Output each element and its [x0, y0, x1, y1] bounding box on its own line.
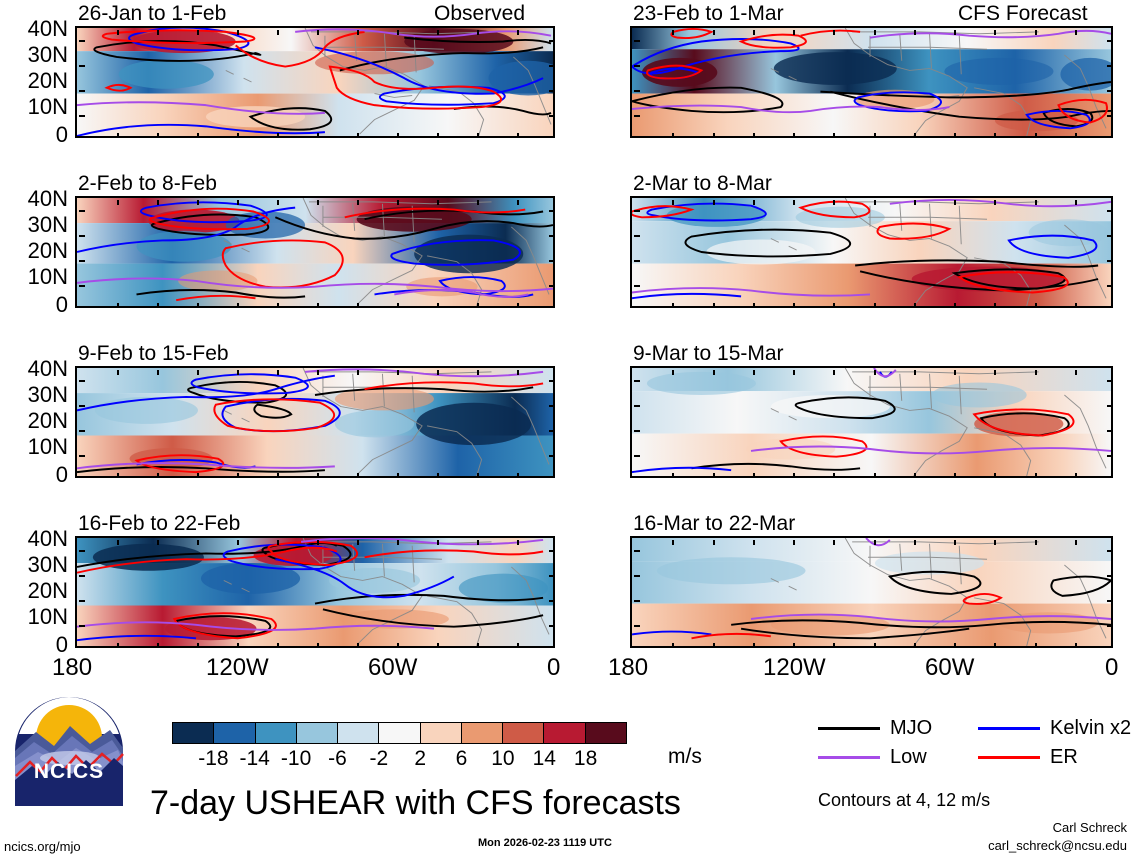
axis-tick	[874, 30, 876, 35]
axis-tick	[237, 643, 239, 648]
colorbar-tick-labels: -18 -14 -10 -6 -2 2 6 10 14 18	[172, 748, 627, 774]
axis-tick	[1107, 625, 1113, 627]
axis-tick	[357, 30, 359, 35]
axis-tick	[157, 30, 159, 35]
y-tick-20N-row3: 20N	[0, 410, 68, 432]
axis-tick	[713, 643, 715, 648]
y-tick-30N-row1: 30N	[0, 44, 68, 66]
column-header-cfs: CFS Forecast	[958, 3, 1088, 24]
axis-tick	[517, 30, 519, 35]
axis-tick	[994, 473, 996, 478]
axis-tick	[277, 303, 279, 308]
axis-tick	[954, 200, 956, 205]
author-email[interactable]: carl_schreck@ncsu.edu	[988, 839, 1127, 852]
colorbar-unit-label: m/s	[668, 745, 702, 769]
axis-tick	[237, 370, 239, 375]
axis-tick	[477, 133, 479, 138]
axis-tick	[517, 370, 519, 375]
axis-tick	[549, 40, 555, 42]
axis-tick	[197, 30, 199, 35]
axis-tick	[753, 370, 755, 375]
map-panel-r4c1[interactable]	[75, 536, 555, 648]
axis-tick	[833, 303, 835, 308]
panel-title-r2c2: 2-Mar to 8-Mar	[633, 173, 772, 194]
axis-tick	[317, 370, 319, 375]
axis-tick	[357, 643, 359, 648]
axis-tick	[117, 473, 119, 478]
axis-tick	[157, 200, 159, 205]
axis-tick	[1107, 600, 1113, 602]
axis-tick	[914, 370, 916, 375]
axis-tick	[793, 473, 795, 478]
axis-tick	[477, 473, 479, 478]
axis-tick	[157, 370, 159, 375]
axis-tick	[833, 370, 835, 375]
axis-tick	[713, 200, 715, 205]
axis-tick	[793, 30, 795, 35]
panel-title-r2c1: 2-Feb to 8-Feb	[78, 173, 217, 194]
axis-tick	[954, 370, 956, 375]
axis-tick	[397, 473, 399, 478]
axis-tick	[1035, 303, 1037, 308]
y-tick-0-row1: 0	[0, 124, 68, 146]
cbar-tick-2: -10	[281, 748, 311, 769]
axis-tick	[753, 200, 755, 205]
axis-tick	[117, 200, 119, 205]
panel-title-r4c2: 16-Mar to 22-Mar	[633, 513, 795, 534]
axis-tick	[517, 643, 519, 648]
axis-tick	[1035, 473, 1037, 478]
axis-tick	[549, 405, 555, 407]
axis-tick	[1075, 473, 1077, 478]
axis-tick	[317, 540, 319, 545]
timestamp: Mon 2026-02-23 1119 UTC	[478, 838, 612, 849]
legend-line-kelvin	[978, 727, 1040, 730]
axis-tick	[672, 30, 674, 35]
axis-tick	[793, 133, 795, 138]
axis-tick	[517, 303, 519, 308]
axis-tick	[317, 200, 319, 205]
axis-tick	[197, 370, 199, 375]
axis-tick	[1035, 540, 1037, 545]
y-tick-30N-row4: 30N	[0, 554, 68, 576]
axis-tick	[1107, 285, 1113, 287]
axis-tick	[357, 200, 359, 205]
axis-tick	[1107, 575, 1113, 577]
axis-tick	[1035, 370, 1037, 375]
axis-tick	[914, 30, 916, 35]
cbar-tick-4: -2	[369, 748, 388, 769]
axis-tick	[753, 133, 755, 138]
axis-tick	[954, 540, 956, 545]
axis-tick	[753, 303, 755, 308]
y-tick-40N-row4: 40N	[0, 528, 68, 550]
axis-tick	[79, 430, 85, 432]
axis-tick	[634, 90, 640, 92]
axis-tick	[237, 473, 239, 478]
panel-title-r1c2: 23-Feb to 1-Mar	[633, 3, 784, 24]
axis-tick	[477, 370, 479, 375]
axis-tick	[1107, 405, 1113, 407]
axis-tick	[994, 643, 996, 648]
axis-tick	[357, 303, 359, 308]
axis-tick	[549, 235, 555, 237]
map-panel-r3c1[interactable]	[75, 366, 555, 478]
axis-tick	[634, 65, 640, 67]
axis-tick	[549, 625, 555, 627]
axis-tick	[914, 540, 916, 545]
axis-tick	[157, 643, 159, 648]
axis-tick	[117, 643, 119, 648]
axis-tick	[79, 625, 85, 627]
axis-tick	[117, 370, 119, 375]
axis-tick	[874, 540, 876, 545]
axis-tick	[713, 370, 715, 375]
axis-tick	[437, 643, 439, 648]
axis-tick	[994, 370, 996, 375]
axis-tick	[753, 643, 755, 648]
panel-title-r3c1: 9-Feb to 15-Feb	[78, 343, 229, 364]
axis-tick	[713, 133, 715, 138]
y-tick-40N-row3: 40N	[0, 358, 68, 380]
axis-tick	[397, 370, 399, 375]
colorbar-swatch-2	[256, 723, 297, 743]
axis-tick	[672, 133, 674, 138]
axis-tick	[397, 303, 399, 308]
axis-tick	[157, 133, 159, 138]
axis-tick	[549, 210, 555, 212]
axis-tick	[634, 210, 640, 212]
y-tick-20N-row1: 20N	[0, 70, 68, 92]
x-tick-60W-left: 60W	[368, 656, 417, 680]
legend-label-mjo: MJO	[890, 718, 932, 738]
axis-tick	[277, 643, 279, 648]
cbar-tick-1: -14	[240, 748, 270, 769]
axis-tick	[237, 540, 239, 545]
axis-tick	[79, 380, 85, 382]
colorbar-swatch-4	[338, 723, 379, 743]
ncics-logo	[14, 696, 124, 806]
axis-tick	[79, 90, 85, 92]
colorbar-swatch-9	[544, 723, 585, 743]
axis-tick	[549, 455, 555, 457]
axis-tick	[874, 303, 876, 308]
axis-tick	[634, 575, 640, 577]
axis-tick	[237, 133, 239, 138]
axis-tick	[1107, 210, 1113, 212]
axis-tick	[1107, 455, 1113, 457]
axis-tick	[357, 370, 359, 375]
colorbar	[172, 722, 627, 744]
axis-tick	[713, 473, 715, 478]
axis-tick	[517, 200, 519, 205]
axis-tick	[317, 30, 319, 35]
axis-tick	[833, 200, 835, 205]
axis-tick	[753, 30, 755, 35]
colorbar-swatch-1	[214, 723, 255, 743]
y-tick-10N-row4: 10N	[0, 606, 68, 628]
axis-tick	[713, 30, 715, 35]
cbar-tick-8: 14	[533, 748, 556, 769]
colorbar-swatch-0	[173, 723, 214, 743]
axis-tick	[549, 550, 555, 552]
axis-tick	[954, 643, 956, 648]
axis-tick	[634, 40, 640, 42]
y-tick-40N-row2: 40N	[0, 188, 68, 210]
axis-tick	[79, 455, 85, 457]
panel-title-r3c2: 9-Mar to 15-Mar	[633, 343, 784, 364]
axis-tick	[237, 303, 239, 308]
axis-tick	[517, 133, 519, 138]
axis-tick	[833, 473, 835, 478]
map-panel-r2c1[interactable]	[75, 196, 555, 308]
axis-tick	[397, 200, 399, 205]
main-title: 7-day USHEAR with CFS forecasts	[150, 786, 681, 820]
axis-tick	[833, 540, 835, 545]
colorbar-swatch-7	[462, 723, 503, 743]
axis-tick	[117, 133, 119, 138]
axis-tick	[397, 643, 399, 648]
axis-tick	[634, 455, 640, 457]
cbar-tick-5: 2	[414, 748, 426, 769]
axis-tick	[954, 303, 956, 308]
axis-tick	[672, 643, 674, 648]
axis-tick	[1035, 200, 1037, 205]
axis-tick	[549, 285, 555, 287]
axis-tick	[1035, 133, 1037, 138]
x-tick-60W-right: 60W	[925, 656, 974, 680]
axis-tick	[793, 370, 795, 375]
axis-tick	[277, 473, 279, 478]
axis-tick	[1107, 260, 1113, 262]
y-tick-10N-row2: 10N	[0, 266, 68, 288]
axis-tick	[157, 303, 159, 308]
axis-tick	[397, 540, 399, 545]
x-tick-180-right: 180	[608, 656, 648, 680]
axis-tick	[477, 30, 479, 35]
axis-tick	[517, 473, 519, 478]
axis-tick	[277, 370, 279, 375]
site-url[interactable]: ncics.org/mjo	[4, 840, 81, 853]
axis-tick	[397, 30, 399, 35]
axis-tick	[1075, 540, 1077, 545]
axis-tick	[317, 473, 319, 478]
axis-tick	[79, 600, 85, 602]
axis-tick	[437, 30, 439, 35]
axis-tick	[914, 643, 916, 648]
colorbar-swatch-5	[379, 723, 420, 743]
panel-title-r4c1: 16-Feb to 22-Feb	[78, 513, 240, 534]
axis-tick	[1107, 380, 1113, 382]
y-tick-20N-row2: 20N	[0, 240, 68, 262]
axis-tick	[517, 540, 519, 545]
axis-tick	[1075, 303, 1077, 308]
axis-tick	[914, 303, 916, 308]
axis-tick	[549, 575, 555, 577]
axis-tick	[1107, 115, 1113, 117]
axis-tick	[1107, 550, 1113, 552]
contour-note: Contours at 4, 12 m/s	[818, 790, 990, 811]
axis-tick	[874, 643, 876, 648]
legend-line-mjo	[818, 727, 880, 730]
panel-title-r1c1: 26-Jan to 1-Feb	[78, 3, 226, 24]
column-header-observed: Observed	[434, 3, 525, 24]
x-tick-120W-left: 120W	[206, 656, 269, 680]
author-name: Carl Schreck	[1053, 821, 1127, 834]
axis-tick	[549, 65, 555, 67]
map-panel-r1c1[interactable]	[75, 26, 555, 138]
legend-label-kelvin: Kelvin x2	[1050, 718, 1131, 738]
y-tick-20N-row4: 20N	[0, 580, 68, 602]
axis-tick	[1075, 30, 1077, 35]
axis-tick	[1035, 643, 1037, 648]
axis-tick	[713, 303, 715, 308]
x-tick-180-left: 180	[52, 656, 92, 680]
x-tick-0-right: 0	[1105, 656, 1118, 680]
axis-tick	[634, 115, 640, 117]
axis-tick	[634, 405, 640, 407]
cbar-tick-6: 6	[456, 748, 468, 769]
axis-tick	[197, 133, 199, 138]
y-tick-0-row2: 0	[0, 294, 68, 316]
axis-tick	[1107, 65, 1113, 67]
map-panel-r2c2[interactable]	[630, 196, 1113, 308]
axis-tick	[914, 133, 916, 138]
axis-tick	[874, 370, 876, 375]
axis-tick	[79, 575, 85, 577]
axis-tick	[549, 430, 555, 432]
axis-tick	[994, 200, 996, 205]
y-tick-10N-row3: 10N	[0, 436, 68, 458]
axis-tick	[793, 200, 795, 205]
axis-tick	[477, 200, 479, 205]
axis-tick	[549, 600, 555, 602]
axis-tick	[437, 303, 439, 308]
ncics-logo-text: NCICS	[14, 760, 124, 784]
axis-tick	[634, 550, 640, 552]
axis-tick	[1075, 643, 1077, 648]
legend-line-low	[818, 756, 880, 759]
axis-tick	[197, 303, 199, 308]
axis-tick	[634, 625, 640, 627]
axis-tick	[477, 643, 479, 648]
axis-tick	[954, 473, 956, 478]
axis-tick	[157, 540, 159, 545]
axis-tick	[1107, 235, 1113, 237]
cbar-tick-9: 18	[574, 748, 597, 769]
axis-tick	[994, 540, 996, 545]
axis-tick	[437, 133, 439, 138]
axis-tick	[79, 405, 85, 407]
axis-tick	[634, 600, 640, 602]
axis-tick	[672, 303, 674, 308]
axis-tick	[79, 210, 85, 212]
legend-line-er	[978, 756, 1040, 759]
colorbar-swatch-8	[503, 723, 544, 743]
axis-tick	[79, 65, 85, 67]
axis-tick	[197, 200, 199, 205]
colorbar-swatch-6	[421, 723, 462, 743]
axis-tick	[357, 540, 359, 545]
axis-tick	[994, 30, 996, 35]
axis-tick	[1035, 30, 1037, 35]
axis-tick	[157, 473, 159, 478]
axis-tick	[1075, 370, 1077, 375]
axis-tick	[914, 200, 916, 205]
axis-tick	[1075, 133, 1077, 138]
axis-tick	[1107, 90, 1113, 92]
x-tick-120W-right: 120W	[763, 656, 826, 680]
cbar-tick-0: -18	[198, 748, 228, 769]
map-panel-r3c2[interactable]	[630, 366, 1113, 478]
axis-tick	[237, 30, 239, 35]
colorbar-swatch-10	[586, 723, 626, 743]
axis-tick	[793, 303, 795, 308]
axis-tick	[874, 200, 876, 205]
axis-tick	[277, 200, 279, 205]
y-tick-10N-row1: 10N	[0, 96, 68, 118]
colorbar-swatch-3	[297, 723, 338, 743]
axis-tick	[634, 380, 640, 382]
axis-tick	[549, 115, 555, 117]
axis-tick	[317, 303, 319, 308]
axis-tick	[317, 133, 319, 138]
axis-tick	[634, 285, 640, 287]
axis-tick	[753, 540, 755, 545]
y-tick-0-row4: 0	[0, 634, 68, 656]
y-tick-30N-row2: 30N	[0, 214, 68, 236]
axis-tick	[713, 540, 715, 545]
axis-tick	[117, 303, 119, 308]
axis-tick	[793, 643, 795, 648]
axis-tick	[79, 550, 85, 552]
axis-tick	[914, 473, 916, 478]
axis-tick	[994, 133, 996, 138]
cbar-tick-7: 10	[491, 748, 514, 769]
y-tick-0-row3: 0	[0, 464, 68, 486]
axis-tick	[833, 133, 835, 138]
axis-tick	[874, 473, 876, 478]
axis-tick	[117, 540, 119, 545]
cbar-tick-3: -6	[328, 748, 347, 769]
axis-tick	[793, 540, 795, 545]
axis-tick	[317, 643, 319, 648]
axis-tick	[672, 540, 674, 545]
axis-tick	[672, 370, 674, 375]
axis-tick	[79, 285, 85, 287]
axis-tick	[833, 643, 835, 648]
axis-tick	[549, 380, 555, 382]
axis-tick	[197, 643, 199, 648]
axis-tick	[753, 473, 755, 478]
axis-tick	[634, 235, 640, 237]
axis-tick	[549, 260, 555, 262]
axis-tick	[79, 40, 85, 42]
axis-tick	[357, 133, 359, 138]
axis-tick	[549, 90, 555, 92]
axis-tick	[634, 430, 640, 432]
axis-tick	[197, 540, 199, 545]
map-panel-r4c2[interactable]	[630, 536, 1113, 648]
axis-tick	[277, 540, 279, 545]
y-tick-30N-row3: 30N	[0, 384, 68, 406]
axis-tick	[1075, 200, 1077, 205]
axis-tick	[277, 30, 279, 35]
map-panel-r1c2[interactable]	[630, 26, 1113, 138]
axis-tick	[437, 473, 439, 478]
axis-tick	[79, 235, 85, 237]
legend-label-low: Low	[890, 747, 927, 767]
